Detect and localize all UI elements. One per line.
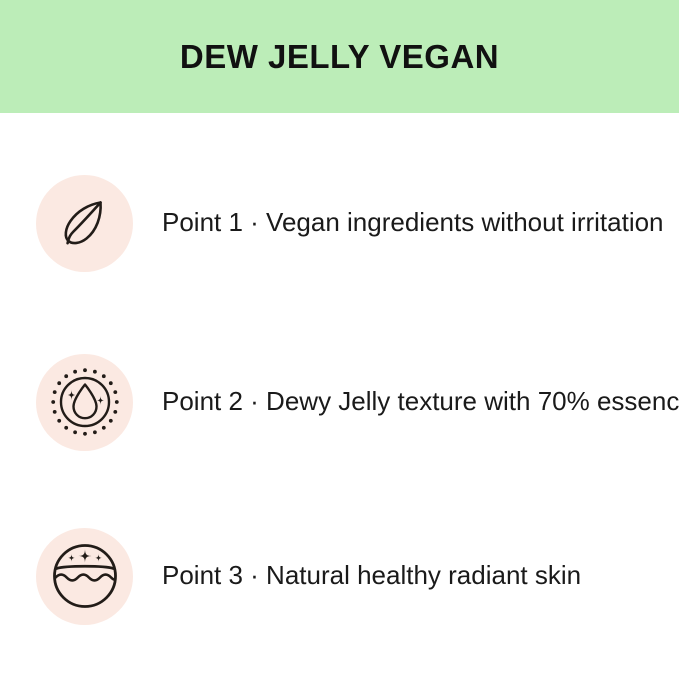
list-item: Point 2 · Dewy Jelly texture with 70% es…	[0, 352, 679, 452]
header-band: DEW JELLY VEGAN	[0, 0, 679, 113]
icon-badge-1	[36, 175, 133, 272]
product-feature-card: DEW JELLY VEGAN Point 1 · Vegan ingredie…	[0, 0, 679, 679]
water-drop-sparkle-icon	[50, 367, 120, 437]
list-item-label: Point 1 · Vegan ingredients without irri…	[162, 207, 664, 238]
icon-badge-3	[36, 528, 133, 625]
page-title: DEW JELLY VEGAN	[180, 40, 499, 73]
list-item-label: Point 2 · Dewy Jelly texture with 70% es…	[162, 386, 679, 417]
list-item-label: Point 3 · Natural healthy radiant skin	[162, 560, 581, 591]
points-list: Point 1 · Vegan ingredients without irri…	[0, 113, 679, 679]
list-item: Point 1 · Vegan ingredients without irri…	[0, 173, 679, 273]
glowing-skin-sparkle-icon	[52, 543, 118, 609]
leaf-icon	[54, 192, 116, 254]
icon-badge-2	[36, 354, 133, 451]
list-item: Point 3 · Natural healthy radiant skin	[0, 526, 679, 626]
